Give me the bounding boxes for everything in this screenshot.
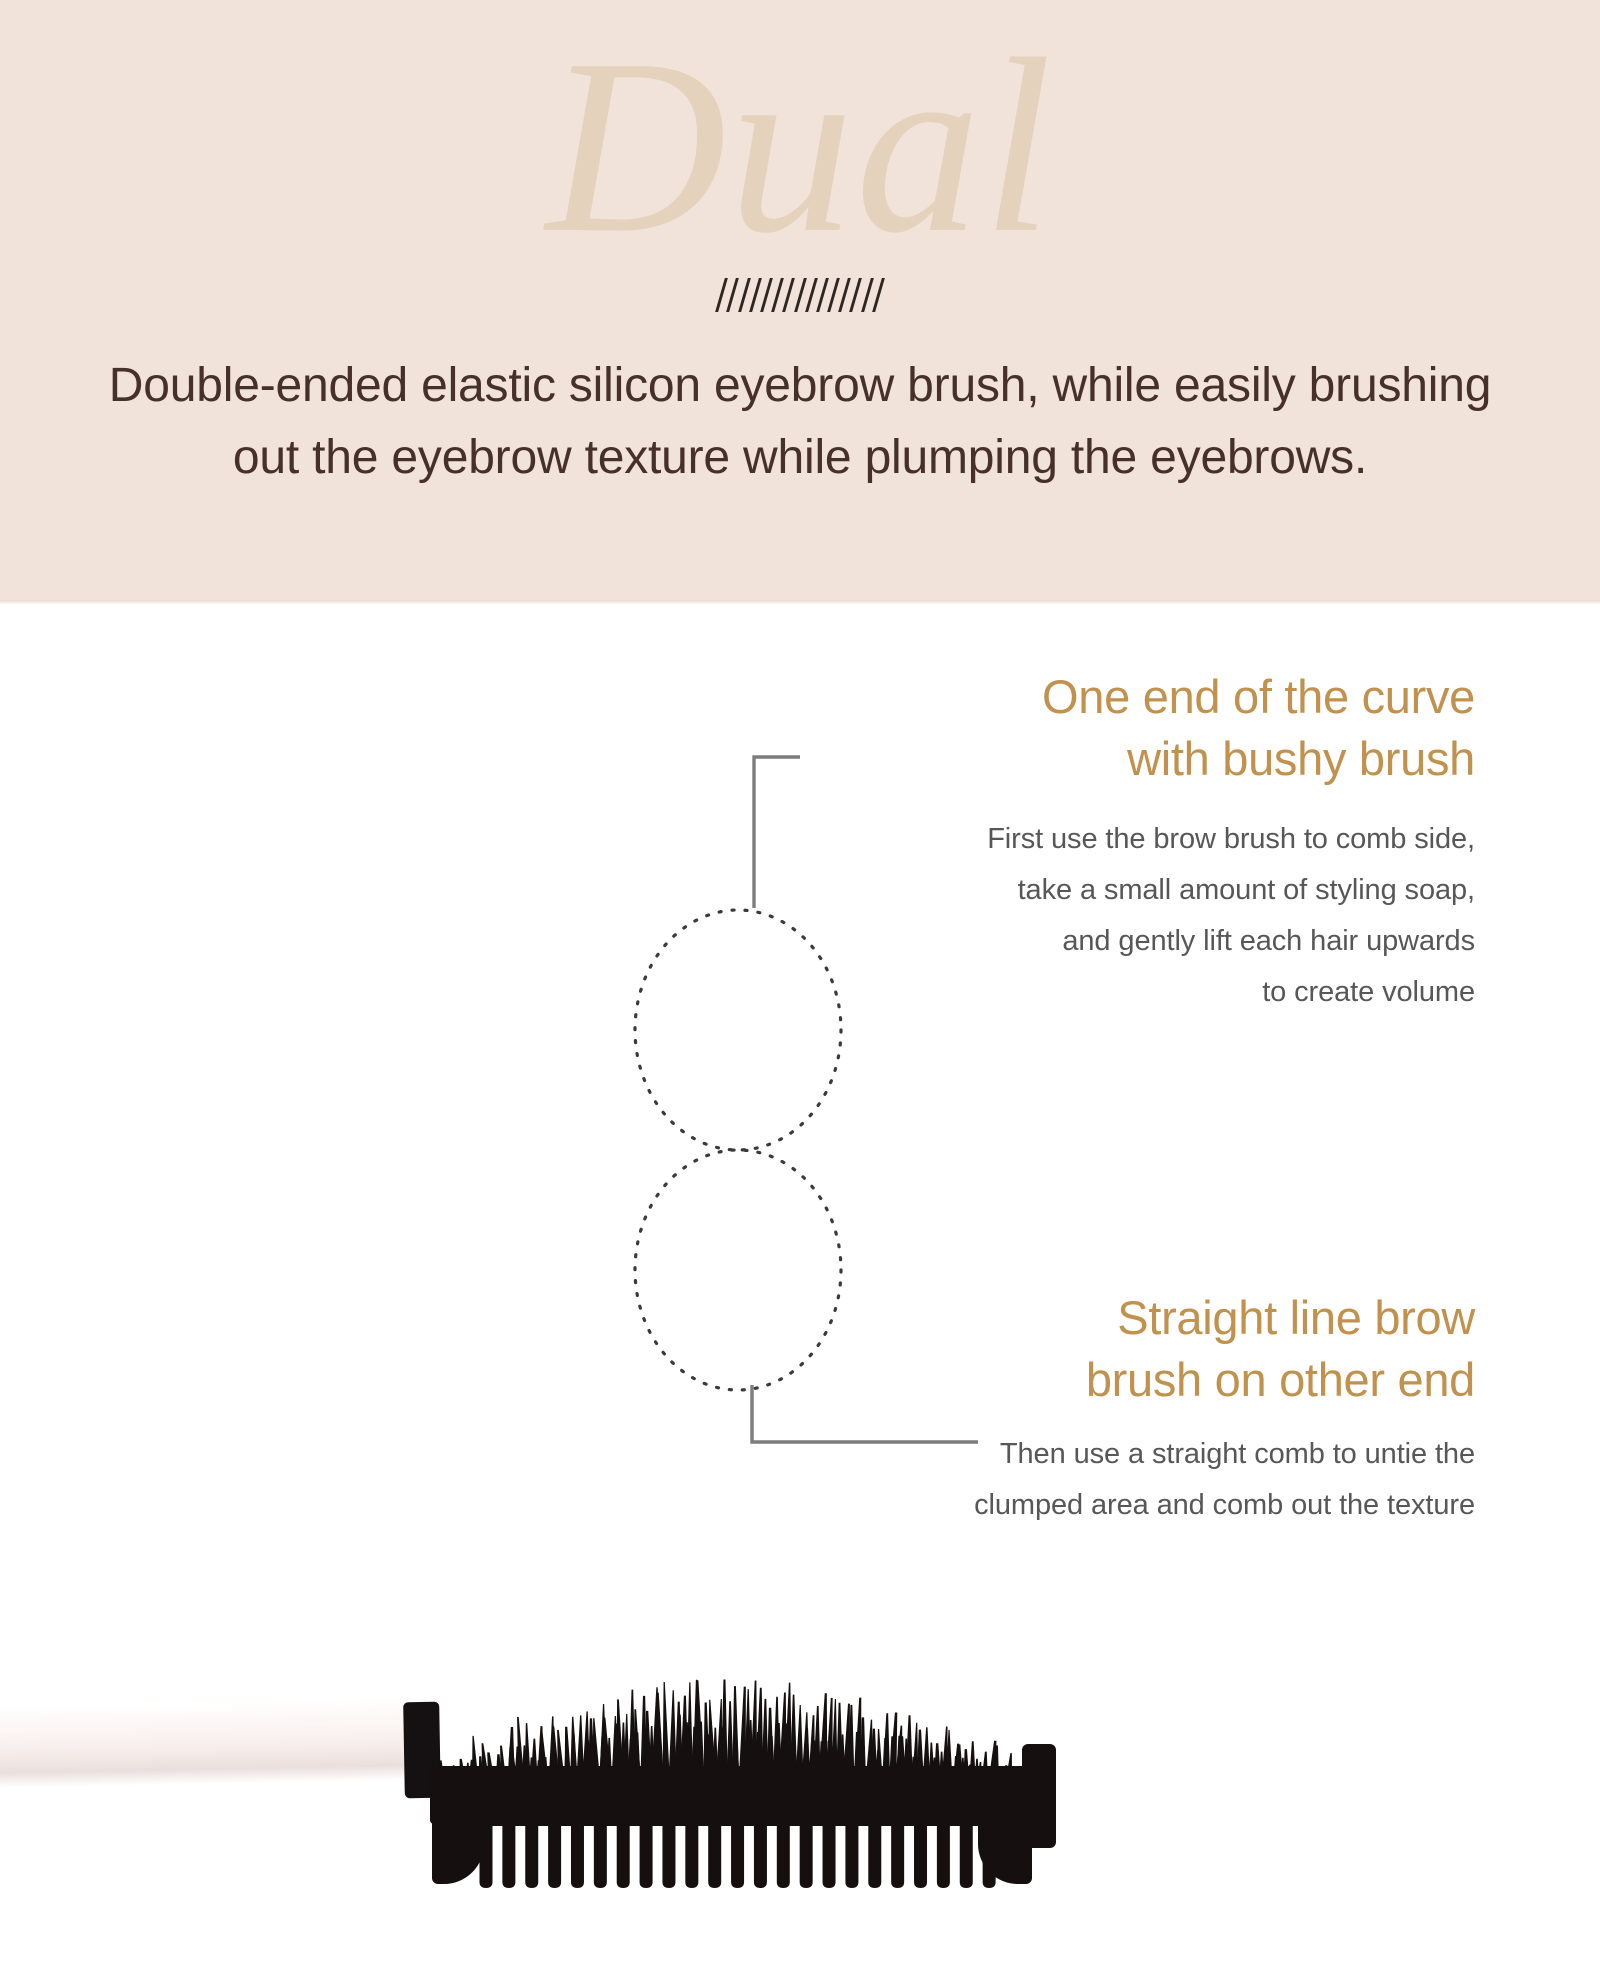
callout-straight-comb-title: Straight line brow brush on other end [830, 1287, 1475, 1411]
hatch-tick [727, 278, 740, 312]
hatch-tick [838, 278, 851, 312]
callout-straight-comb-body: Then use a straight comb to untie the cl… [830, 1429, 1475, 1531]
hatch-tick [861, 278, 874, 312]
hatch-tick [850, 278, 863, 312]
comb-ridge [436, 1804, 1032, 1826]
hatch-marks-divider-icon [0, 278, 1600, 318]
hatch-tick [715, 278, 728, 312]
callout-bushy-brush: One end of the curve with bushy brush Fi… [855, 666, 1475, 1018]
hatch-tick [749, 278, 762, 312]
hatch-tick [794, 278, 807, 312]
product-detail-section: One end of the curve with bushy brush Fi… [0, 604, 1600, 1600]
hatch-tick [771, 278, 784, 312]
straight-comb-teeth [0, 1664, 1080, 1964]
product-image [0, 1664, 1080, 1964]
hatch-tick [805, 278, 818, 312]
hatch-tick [760, 278, 773, 312]
page-title: Dual [0, 22, 1600, 272]
hatch-tick [782, 278, 795, 312]
hatch-tick [827, 278, 840, 312]
callout-bushy-brush-body: First use the brow brush to comb side, t… [855, 814, 1475, 1018]
hatch-tick [738, 278, 751, 312]
callout-bushy-brush-title: One end of the curve with bushy brush [855, 666, 1475, 790]
hero-subtitle: Double-ended elastic silicon eyebrow bru… [100, 350, 1500, 494]
hero-banner: Dual Double-ended elastic silicon eyebro… [0, 0, 1600, 604]
hatch-tick [872, 278, 885, 312]
callout-straight-comb: Straight line brow brush on other end Th… [830, 1287, 1475, 1531]
hatch-tick [816, 278, 829, 312]
